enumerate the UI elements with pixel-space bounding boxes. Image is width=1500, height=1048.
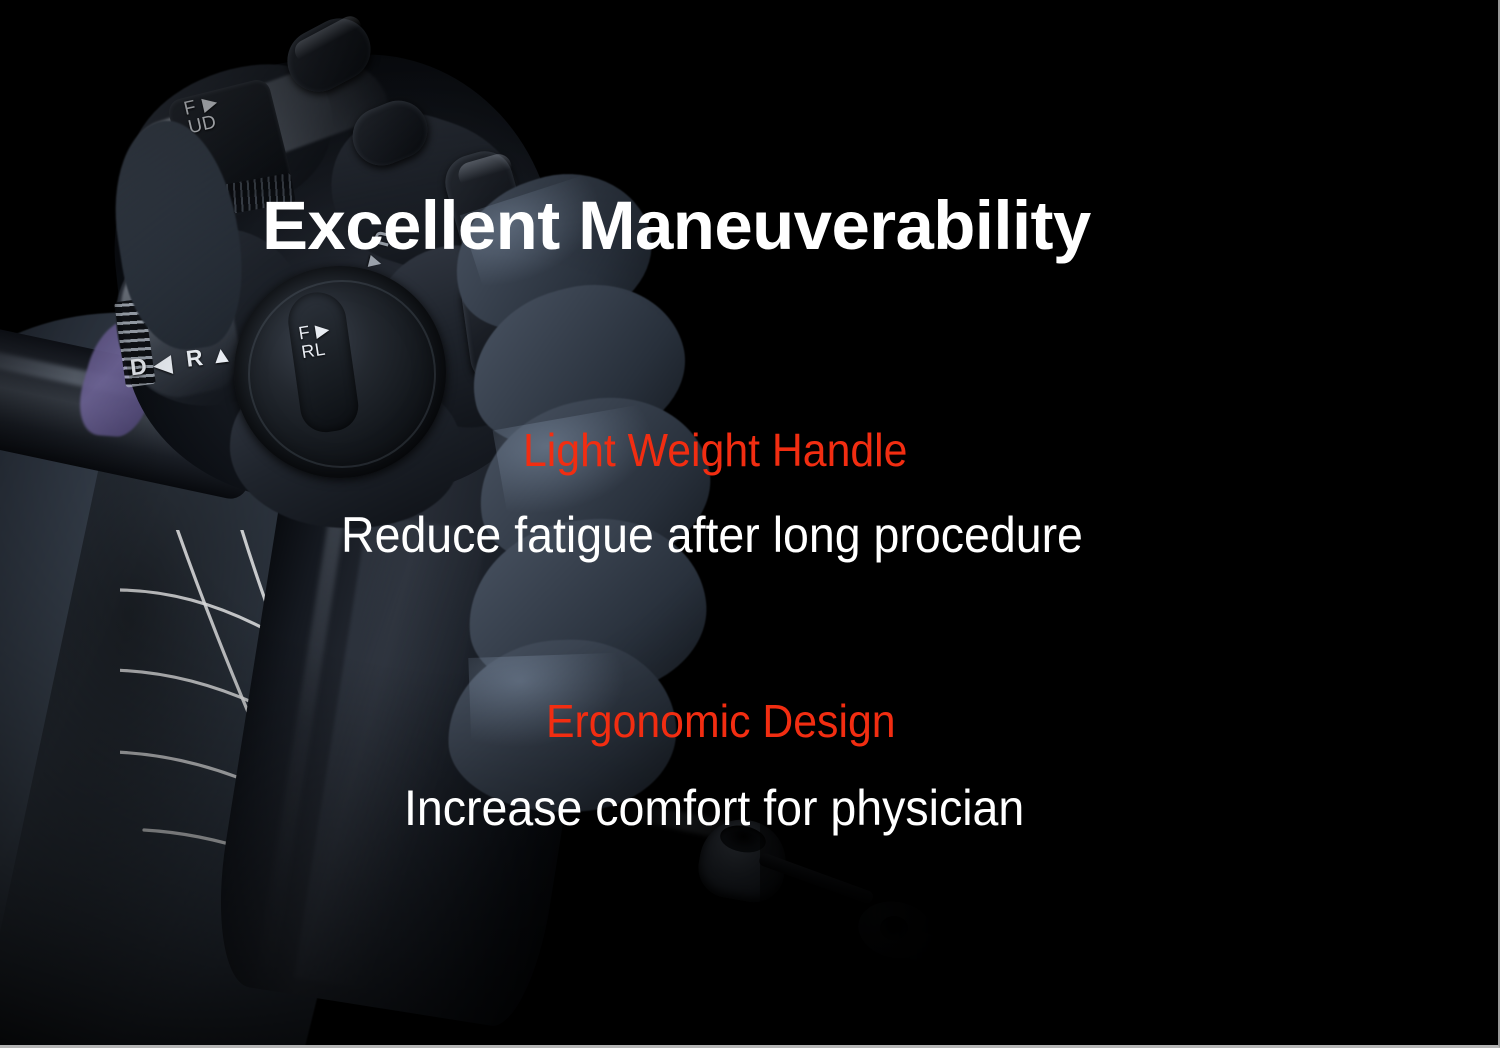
page-title: Excellent Maneuverability — [262, 186, 1091, 265]
feature-1-body: Reduce fatigue after long procedure — [341, 506, 1083, 564]
slide-canvas: F ▶ UD F ▶ RL D ◀ R ▲ U ▲ Excellent Mane… — [0, 0, 1500, 1048]
feature-2-body: Increase comfort for physician — [404, 779, 1024, 837]
feature-1-heading: Light Weight Handle — [523, 423, 907, 477]
valve-cap-hole — [880, 916, 908, 940]
feature-2-heading: Ergonomic Design — [546, 694, 896, 748]
valve-cap-tab — [909, 931, 960, 972]
